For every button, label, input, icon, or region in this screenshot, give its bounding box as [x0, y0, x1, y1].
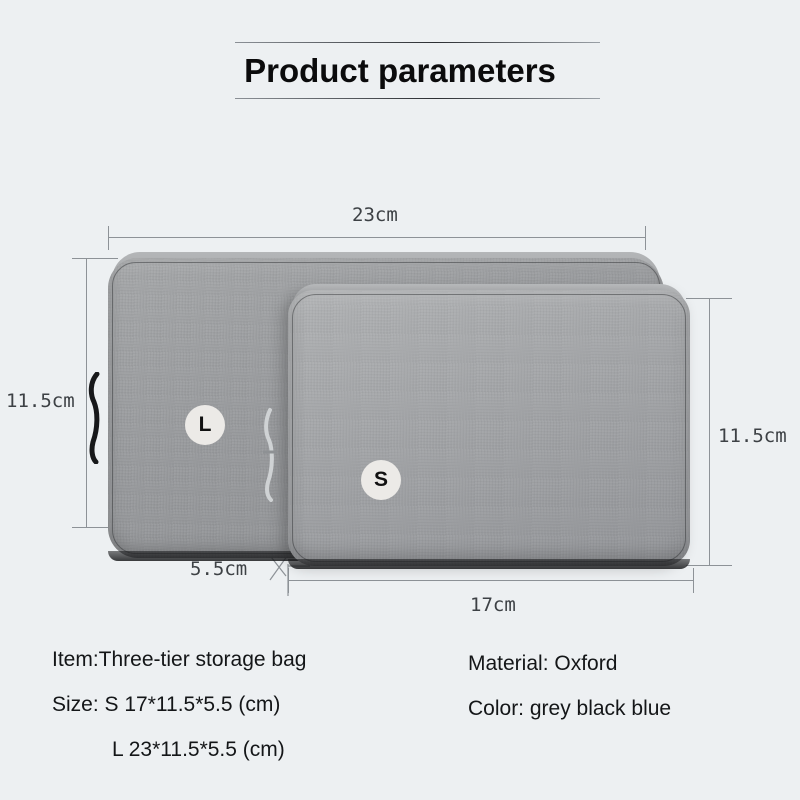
product-diagram: 23cm 11.5cm L: [0, 180, 800, 620]
zipper-pull-large-icon: [88, 372, 102, 464]
size-badge-large: L: [185, 405, 225, 445]
dimension-tick-small-height-bottom: [686, 565, 732, 566]
title-rule-top: [235, 42, 600, 43]
dimension-label-small-width: 17cm: [470, 594, 516, 616]
dimension-label-depth: 5.5cm: [190, 558, 247, 580]
spec-size-large: L 23*11.5*5.5 (cm): [112, 738, 285, 762]
product-parameters-page: Product parameters 23cm 11.5cm L: [0, 0, 800, 800]
dimension-line-large-width: [108, 237, 645, 238]
small-bag-base: [288, 559, 690, 569]
dimension-tick-large-height-top: [72, 258, 118, 259]
dimension-line-large-height: [86, 258, 87, 528]
dimension-label-large-height: 11.5cm: [6, 390, 75, 412]
title-block: Product parameters: [0, 36, 800, 116]
spec-size-small: Size: S 17*11.5*5.5 (cm): [52, 693, 280, 717]
dimension-tick-large-width-right: [645, 226, 646, 250]
dimension-label-large-width: 23cm: [352, 204, 398, 226]
page-title: Product parameters: [0, 48, 800, 94]
small-bag-outline: [292, 294, 686, 562]
small-bag: [288, 290, 690, 566]
dimension-line-small-width: [288, 580, 693, 581]
dimension-line-small-height: [709, 298, 710, 565]
dimension-tick-large-width-left: [108, 226, 109, 250]
size-badge-small: S: [361, 460, 401, 500]
spec-material: Material: Oxford: [468, 652, 617, 676]
dimension-label-small-height: 11.5cm: [718, 425, 787, 447]
title-rule-bottom: [235, 98, 600, 99]
dimension-tick-small-height-top: [686, 298, 732, 299]
spec-item: Item:Three-tier storage bag: [52, 648, 306, 672]
zipper-pull-small-icon: [262, 406, 278, 502]
spec-color: Color: grey black blue: [468, 697, 671, 721]
spec-list: Item:Three-tier storage bag Size: S 17*1…: [0, 640, 800, 800]
dimension-tick-small-width-right: [693, 568, 694, 593]
